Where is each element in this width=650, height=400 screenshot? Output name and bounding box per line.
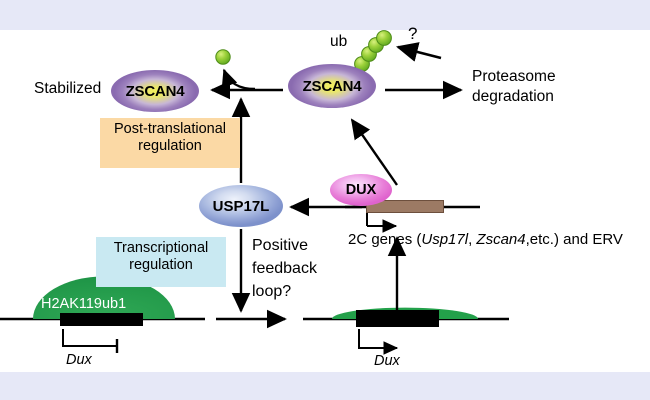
- feedback-label-line3: loop?: [252, 283, 291, 301]
- feedback-label-line1: Positive: [252, 237, 308, 255]
- proteasome-label-line2: degradation: [472, 88, 554, 105]
- transcriptional-line1: Transcriptional: [102, 240, 220, 257]
- 2c-gene-tss-arrow: [367, 213, 396, 226]
- dux-locus-active: [303, 308, 509, 348]
- post-translational-line2: regulation: [106, 138, 234, 155]
- zscan4-stabilized-node[interactable]: ZSCAN4: [111, 70, 199, 112]
- question-mark-label: ?: [408, 24, 417, 43]
- ub-label: ub: [330, 33, 347, 50]
- deubiquitination-arrow: [212, 70, 283, 90]
- proteasome-label-line1: Proteasome: [472, 68, 556, 85]
- post-translational-line1: Post-translational: [106, 121, 234, 138]
- unknown-ligase-arrow: [398, 47, 441, 58]
- dux-gene-label-left: Dux: [66, 352, 92, 368]
- transcriptional-line2: regulation: [102, 257, 220, 274]
- dux-gene-label-right: Dux: [374, 353, 400, 369]
- zscan4-ubiquitinated-node[interactable]: ZSCAN4: [288, 64, 376, 108]
- 2c-genes-prefix: 2C genes (: [348, 231, 421, 248]
- dux-node[interactable]: DUX: [330, 174, 392, 206]
- stabilized-label: Stabilized: [34, 80, 101, 97]
- transcriptional-regulation-box: Transcriptional regulation: [96, 237, 226, 287]
- 2c-genes-suffix: ,etc.) and ERV: [526, 231, 623, 248]
- post-translational-regulation-box: Post-translational regulation: [100, 118, 240, 168]
- pathway-diagram-canvas: [0, 0, 650, 400]
- 2c-genes-caption: 2C genes (Usp17l, Zscan4,etc.) and ERV: [348, 232, 623, 249]
- 2c-gene-zscan4: Zscan4: [476, 231, 525, 248]
- free-ubiquitin-icon: [216, 50, 230, 64]
- 2c-gene-usp17l: Usp17l: [421, 231, 468, 248]
- dux-locus-repressed: [0, 276, 205, 353]
- feedback-label-line2: feedback: [252, 260, 317, 278]
- usp17l-node[interactable]: USP17L: [199, 185, 283, 227]
- h2ak119ub1-label: H2AK119ub1: [41, 296, 126, 312]
